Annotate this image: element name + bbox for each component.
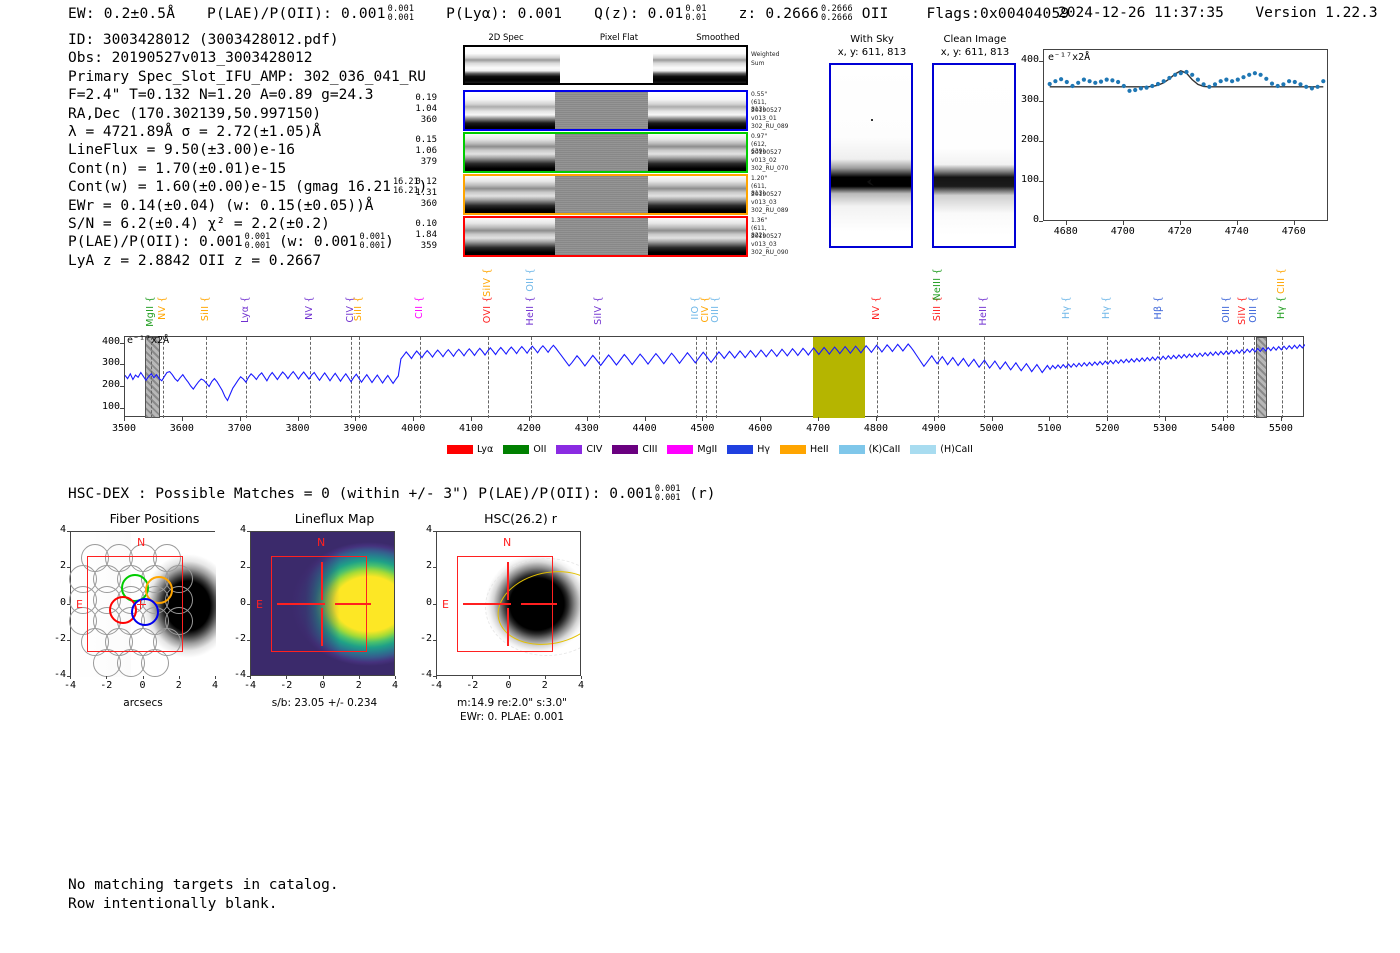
lineflux-ytick-mark-2	[247, 567, 250, 568]
fiber-positions-image[interactable]: N E	[70, 531, 215, 676]
emission-label-SiII-2: SiII {	[200, 296, 211, 321]
lineflux-xtick-mark-4	[395, 676, 396, 679]
hsc-ytick-mark--4	[433, 676, 436, 677]
fiber-row-3-num-1: 1.84	[409, 230, 437, 242]
fiber-ytick-mark-2	[67, 567, 70, 568]
zoom-xtick-mark-4700	[1123, 221, 1124, 225]
hsc-xtick-mark--4	[436, 676, 437, 679]
emission-label-Hβ-22: Hβ {	[1153, 296, 1164, 319]
main-xtick-mark-5500	[1281, 417, 1282, 421]
legend-swatch-(H)CaII	[910, 445, 936, 454]
legend-swatch-Lyα	[447, 445, 473, 454]
main-ytick-400: 400	[88, 336, 120, 347]
fiber-xtick-mark--4	[70, 676, 71, 679]
header-qz-range: 0.010.01	[685, 5, 706, 23]
lineflux-xtick-mark-2	[359, 676, 360, 679]
main-ytick-mark-300	[120, 364, 124, 365]
clean-image-title: Clean Image	[925, 34, 1025, 45]
weighted-sum-label-2: Sum	[751, 60, 764, 67]
legend-label-CIII: CIII	[642, 444, 657, 455]
fiber-row-3-meta-2: 20190527	[751, 233, 782, 240]
main-xtick-mark-5000	[992, 417, 993, 421]
emission-label-Hγ-26: Hγ {	[1276, 296, 1287, 319]
fiber-row-3-strip[interactable]	[463, 216, 748, 257]
main-xtick-5500: 5500	[1259, 423, 1303, 434]
main-xtick-5100: 5100	[1027, 423, 1071, 434]
main-ytick-mark-200	[120, 386, 124, 387]
emission-label-SiII-6: SiII {	[353, 296, 364, 321]
lineflux-xtick-mark--2	[286, 676, 287, 679]
main-xtick-mark-5300	[1165, 417, 1166, 421]
plae-w-range: 0.0010.001	[360, 233, 386, 251]
header-ew: EW: 0.2±0.5Å	[68, 6, 175, 22]
lineflux-map-title: Lineflux Map	[242, 511, 427, 526]
fiber-row-1-num-2: 379	[409, 157, 437, 169]
emission-label-SiIV-9: SiIV {	[482, 268, 493, 297]
fiber-row-2-num-0: 0.12	[409, 177, 437, 189]
lineflux-east-label: E	[256, 598, 263, 611]
clean-image-subtitle: x, y: 611, 813	[925, 47, 1025, 58]
fiber-row-2-meta-0: 1.20"	[751, 175, 767, 182]
fiber-row-1-meta-0: 0.97"	[751, 133, 767, 140]
fiber-row-2-num-1: 1.31	[409, 188, 437, 200]
main-xtick-5300: 5300	[1143, 423, 1187, 434]
legend-item-Lyα: Lyα	[447, 444, 493, 455]
legend-swatch-CIII	[612, 445, 638, 454]
lineflux-ytick-mark-4	[247, 531, 250, 532]
info-primary-spec: Primary Spec_Slot_IFU_AMP: 302_036_041_R…	[68, 68, 427, 86]
main-ytick-100: 100	[88, 401, 120, 412]
twod-spectra-panel: 2D Spec Pixel Flat Smoothed Weighted Sum…	[441, 33, 761, 258]
legend-swatch-Hγ	[727, 445, 753, 454]
emission-label-HeII-19: HeII {	[978, 296, 989, 325]
hsc-ytick-0: 0	[412, 597, 432, 608]
main-xtick-mark-4400	[645, 417, 646, 421]
footer-line-2: Row intentionally blank.	[68, 895, 339, 914]
lineflux-ytick-4: 4	[226, 524, 246, 535]
header-plae-poii-range: 0.0010.001	[388, 5, 415, 23]
info-redshifts: LyA z = 2.8842 OII z = 0.2667	[68, 252, 427, 270]
legend-label-OII: OII	[533, 444, 546, 455]
zoom-xtick-4700: 4700	[1103, 226, 1143, 237]
hsc-dex-range: 0.0010.001	[655, 485, 681, 503]
main-xtick-mark-4000	[413, 417, 414, 421]
lineflux-xtick-0: 0	[307, 680, 339, 691]
main-xtick-mark-3800	[298, 417, 299, 421]
legend-label-(K)CaII: (K)CaII	[869, 444, 901, 455]
legend-label-CIV: CIV	[586, 444, 602, 455]
fiber-xtick-0: 0	[127, 680, 159, 691]
fiber-xtick--4: -4	[54, 680, 86, 691]
fiber-row-3-meta-3: v013_03	[751, 241, 777, 248]
timestamp: 2024-12-26 11:37:35	[1058, 5, 1224, 21]
hsc-xtick-0: 0	[493, 680, 525, 691]
emission-label-Lyα-3: Lyα {	[240, 296, 251, 323]
main-xtick-4100: 4100	[449, 423, 493, 434]
main-xtick-3700: 3700	[218, 423, 262, 434]
fiber-row-1-meta-4: 302_RU_070	[751, 165, 788, 172]
main-xtick-mark-4200	[529, 417, 530, 421]
hsc-east-label: E	[442, 598, 449, 611]
hsc-north-label: N	[503, 536, 511, 549]
fiber-row-2-meta-4: 302_RU_089	[751, 207, 788, 214]
hsc-dex-text: HSC-DEX : Possible Matches = 0 (within +…	[68, 486, 653, 502]
legend-swatch-OII	[503, 445, 529, 454]
main-xtick-mark-5200	[1107, 417, 1108, 421]
zoom-ytick-mark-100	[1039, 181, 1043, 182]
fiber-ytick-2: 2	[46, 560, 66, 571]
fiber-row-1-strip[interactable]	[463, 132, 748, 173]
lineflux-ytick-2: 2	[226, 560, 246, 571]
main-xtick-4400: 4400	[623, 423, 667, 434]
fiber-row-0-meta-0: 0.55"	[751, 91, 767, 98]
main-xtick-mark-4800	[876, 417, 877, 421]
main-xtick-mark-3600	[182, 417, 183, 421]
fiber-xtick-4: 4	[199, 680, 231, 691]
main-xtick-5400: 5400	[1201, 423, 1245, 434]
fiber-east-label: E	[76, 598, 83, 611]
column-title-smoothed: Smoothed	[673, 33, 763, 43]
clean-image[interactable]	[932, 63, 1016, 248]
legend-swatch-HeII	[780, 445, 806, 454]
fiber-ytick-4: 4	[46, 524, 66, 535]
emission-label-Hγ-21: Hγ {	[1101, 296, 1112, 319]
fiber-ytick-0: 0	[46, 597, 66, 608]
main-xtick-mark-3700	[240, 417, 241, 421]
info-obs: Obs: 20190527v013_3003428012	[68, 49, 427, 67]
main-xtick-mark-4900	[934, 417, 935, 421]
main-xtick-3500: 3500	[102, 423, 146, 434]
hsc-ytick-mark--2	[433, 640, 436, 641]
zoom-xtick-mark-4720	[1180, 221, 1181, 225]
emission-label-NV-1: NV {	[157, 296, 168, 320]
zoom-ytick-mark-300	[1039, 101, 1043, 102]
hsc-image[interactable]: N E	[436, 531, 581, 676]
emission-label-HeII-10: HeII {	[525, 296, 536, 325]
hsc-caption-2: EWr: 0. PLAE: 0.001	[432, 711, 592, 723]
hsc-xtick-mark--2	[472, 676, 473, 679]
main-ytick-200: 200	[88, 379, 120, 390]
hsc-caption-1: m:14.9 re:2.0" s:3.0"	[432, 697, 592, 709]
emission-label-NeIII-18: NeIII {	[932, 268, 943, 301]
header-plya: P(Lyα): 0.001	[446, 6, 562, 22]
legend-item-CIII: CIII	[612, 444, 657, 455]
fiber-xtick-mark-0	[143, 676, 144, 679]
fiber-ytick-mark-4	[67, 531, 70, 532]
lineflux-ytick--2: -2	[226, 633, 246, 644]
column-title-pixel-flat: Pixel Flat	[569, 33, 669, 43]
hsc-ytick--2: -2	[412, 633, 432, 644]
weighted-sum-strip	[463, 45, 748, 85]
fiber-row-0-meta-3: v013_01	[751, 115, 777, 122]
legend-label-Lyα: Lyα	[477, 444, 493, 455]
fiber-north-label: N	[137, 536, 145, 549]
with-sky-image[interactable]	[829, 63, 913, 248]
legend-item-HeII: HeII	[780, 444, 829, 455]
legend-swatch-MgII	[667, 445, 693, 454]
lineflux-xtick-2: 2	[343, 680, 375, 691]
lineflux-caption: s/b: 23.05 +/- 0.234	[252, 697, 397, 709]
emission-label-NV-4: NV {	[304, 296, 315, 320]
fiber-ytick-mark-0	[67, 604, 70, 605]
lineflux-ytick-0: 0	[226, 597, 246, 608]
fiber-ytick-mark--2	[67, 640, 70, 641]
zoom-ytick-mark-400	[1039, 61, 1043, 62]
main-xtick-mark-4100	[471, 417, 472, 421]
legend-label-(H)CaII: (H)CaII	[940, 444, 973, 455]
fiber-ytick-mark--4	[67, 676, 70, 677]
main-xtick-3800: 3800	[276, 423, 320, 434]
hsc-xtick-mark-2	[545, 676, 546, 679]
zoom-ytick-mark-200	[1039, 141, 1043, 142]
emission-label-SiIV-24: SiIV {	[1237, 296, 1248, 325]
hsc-xtick-mark-4	[581, 676, 582, 679]
hsc-ytick-mark-2	[433, 567, 436, 568]
zoom-ytick-300: 300	[1011, 94, 1039, 105]
hsc-xtick--2: -2	[456, 680, 488, 691]
info-continuum-narrow: Cont(n) = 1.70(±0.01)e-15	[68, 160, 427, 178]
main-xtick-4900: 4900	[912, 423, 956, 434]
main-xtick-4300: 4300	[565, 423, 609, 434]
lineflux-north-label: N	[317, 536, 325, 549]
info-radec: RA,Dec (170.302139,50.997150)	[68, 105, 427, 123]
lineflux-xtick-mark--4	[250, 676, 251, 679]
lineflux-xtick--4: -4	[234, 680, 266, 691]
weighted-sum-label-1: Weighted	[751, 51, 779, 58]
zoom-xtick-mark-4760	[1294, 221, 1295, 225]
fiber-row-3-meta-0: 1.36"	[751, 217, 767, 224]
main-ytick-mark-400	[120, 343, 124, 344]
fiber-ytick--2: -2	[46, 633, 66, 644]
emission-label-CIII-27: CIII {	[1276, 268, 1287, 294]
main-xtick-mark-3900	[355, 417, 356, 421]
main-xtick-4500: 4500	[680, 423, 724, 434]
emission-label-OIII-25: OIII {	[1248, 296, 1259, 323]
lineflux-xtick-4: 4	[379, 680, 411, 691]
header-qz: Q(z): 0.01	[594, 6, 683, 22]
legend-label-MgII: MgII	[697, 444, 717, 455]
main-xtick-4600: 4600	[738, 423, 782, 434]
zoom-ytick-0: 0	[1011, 214, 1039, 225]
info-id: ID: 3003428012 (3003428012.pdf)	[68, 31, 427, 49]
fiber-xtick-mark-4	[215, 676, 216, 679]
emission-label-OIII-15: OIII {	[710, 296, 721, 323]
hsc-ytick-2: 2	[412, 560, 432, 571]
fiber-xtick-2: 2	[163, 680, 195, 691]
zoom-units-annotation: e⁻¹⁷x2Å	[1048, 52, 1090, 63]
emission-label-NV-16: NV {	[871, 296, 882, 320]
header-summary-line: EW: 0.2±0.5Å P(LAE)/P(OII): 0.0010.0010.…	[68, 5, 1069, 23]
legend-item-(H)CaII: (H)CaII	[910, 444, 973, 455]
zoom-xtick-mark-4680	[1066, 221, 1067, 225]
fiber-row-2-num-2: 360	[409, 199, 437, 211]
main-xtick-4700: 4700	[796, 423, 840, 434]
info-lineflux: LineFlux = 9.50(±3.00)e-16	[68, 141, 427, 159]
lineflux-ytick-mark--4	[247, 676, 250, 677]
zoom-ytick-100: 100	[1011, 174, 1039, 185]
legend-item-OII: OII	[503, 444, 546, 455]
zoomed-line-spectrum-chart[interactable]: e⁻¹⁷x2Å	[1043, 49, 1328, 221]
fiber-row-1-num-1: 1.06	[409, 146, 437, 158]
fiber-fov-box	[87, 556, 183, 652]
header-z-range: 0.26660.2666	[821, 5, 853, 23]
main-xtick-mark-5400	[1223, 417, 1224, 421]
emission-label-OVI-8: OVI {	[482, 296, 493, 323]
main-units-annotation: e⁻¹⁷x2Å	[127, 335, 169, 346]
main-xtick-mark-5100	[1049, 417, 1050, 421]
fiber-row-2-strip[interactable]	[463, 174, 748, 215]
legend-swatch-CIV	[556, 445, 582, 454]
spectrum-legend: LyαOIICIVCIIIMgIIHγHeII(K)CaII(H)CaII	[447, 444, 973, 455]
legend-item-CIV: CIV	[556, 444, 602, 455]
main-xtick-3600: 3600	[160, 423, 204, 434]
fiber-row-1-meta-2: 20190527	[751, 149, 782, 156]
hsc-ytick--4: -4	[412, 669, 432, 680]
zoom-xtick-4680: 4680	[1046, 226, 1086, 237]
fiber-circle-25	[141, 649, 169, 677]
hsc-ytick-mark-4	[433, 531, 436, 532]
with-sky-subtitle: x, y: 611, 813	[822, 47, 922, 58]
fiber-row-1-meta-3: v013_02	[751, 157, 777, 164]
legend-item-(K)CaII: (K)CaII	[839, 444, 901, 455]
fiber-row-0-meta-4: 302_RU_089	[751, 123, 788, 130]
footer-line-1: No matching targets in catalog.	[68, 876, 339, 895]
legend-label-HeII: HeII	[810, 444, 829, 455]
fiber-row-0-num-1: 1.04	[409, 104, 437, 116]
main-ytick-mark-100	[120, 408, 124, 409]
main-xtick-mark-3500	[124, 417, 125, 421]
zoom-xtick-4720: 4720	[1160, 226, 1200, 237]
hsc-xtick-mark-0	[509, 676, 510, 679]
header-z: z: 0.2666	[739, 6, 819, 22]
fiber-row-2-meta-3: v013_03	[751, 199, 777, 206]
main-xtick-4000: 4000	[391, 423, 435, 434]
main-xtick-mark-4300	[587, 417, 588, 421]
version: Version 1.22.3	[1255, 5, 1377, 21]
main-xtick-mark-4500	[702, 417, 703, 421]
fiber-row-0-strip[interactable]	[463, 90, 748, 131]
zoom-ytick-mark-0	[1039, 221, 1043, 222]
lineflux-map-image[interactable]: N E	[250, 531, 395, 676]
hsc-ytick-mark-0	[433, 604, 436, 605]
lineflux-xtick--2: -2	[270, 680, 302, 691]
legend-swatch-(K)CaII	[839, 445, 865, 454]
fiber-xtick--2: -2	[90, 680, 122, 691]
with-sky-title: With Sky	[822, 34, 922, 45]
main-xtick-mark-4700	[818, 417, 819, 421]
emission-label-MgII-0: MgII {	[145, 296, 156, 327]
main-xtick-4200: 4200	[507, 423, 551, 434]
header-timestamp-version: 2024-12-26 11:37:35 Version 1.22.3	[1058, 5, 1378, 21]
zoomed-spectrum-svg	[1044, 50, 1329, 222]
info-continuum-wide: Cont(w) = 1.60(±0.00)e-15 (gmag 16.2116.…	[68, 178, 427, 196]
hsc-xtick-4: 4	[565, 680, 597, 691]
zoom-xtick-mark-4740	[1237, 221, 1238, 225]
main-xtick-4800: 4800	[854, 423, 898, 434]
hsc-xtick-2: 2	[529, 680, 561, 691]
header-z-type: OII	[862, 6, 889, 22]
info-ewr: EWr = 0.14(±0.04) (w: 0.15(±0.05))Å	[68, 197, 427, 215]
hsc-dex-filter: (r)	[689, 486, 715, 502]
detection-info-block: ID: 3003428012 (3003428012.pdf) Obs: 201…	[68, 31, 427, 270]
zoom-xtick-4760: 4760	[1274, 226, 1314, 237]
fiber-row-3-num-0: 0.10	[409, 219, 437, 231]
info-params: F=2.4" T=0.132 N=1.20 A=0.89 g=24.3	[68, 86, 427, 104]
main-xtick-3900: 3900	[333, 423, 377, 434]
emission-label-Hγ-20: Hγ {	[1061, 296, 1072, 319]
lineflux-ytick--4: -4	[226, 669, 246, 680]
hsc-xtick--4: -4	[420, 680, 452, 691]
emission-label-CII-7: CII {	[414, 296, 425, 319]
fiber-row-0-num-0: 0.19	[409, 93, 437, 105]
hsc-image-title: HSC(26.2) r	[428, 511, 613, 526]
legend-label-Hγ: Hγ	[757, 444, 770, 455]
info-lambda-sigma: λ = 4721.89Å σ = 2.72(±1.05)Å	[68, 123, 427, 141]
main-xtick-mark-4600	[760, 417, 761, 421]
column-title-2d-spec: 2D Spec	[451, 33, 561, 43]
zoom-ytick-200: 200	[1011, 134, 1039, 145]
plae-range: 0.0010.001	[245, 233, 271, 251]
fiber-xtick-mark-2	[179, 676, 180, 679]
emission-label-OIII-23: OIII {	[1221, 296, 1232, 323]
zoom-ytick-400: 400	[1011, 54, 1039, 65]
fiber-xtick-mark--2	[106, 676, 107, 679]
full-spectrum-chart[interactable]: e⁻¹⁷x2Å	[124, 336, 1304, 417]
hsc-dex-summary: HSC-DEX : Possible Matches = 0 (within +…	[68, 485, 715, 503]
info-plae-poii: P(LAE)/P(OII): 0.0010.0010.001 (w: 0.001…	[68, 233, 427, 251]
hsc-ytick-4: 4	[412, 524, 432, 535]
info-snr-chi2: S/N = 6.2(±0.4) χ² = 2.2(±0.2)	[68, 215, 427, 233]
fiber-row-0-meta-2: 20190527	[751, 107, 782, 114]
fiber-row-3-meta-4: 302_RU_090	[751, 249, 788, 256]
footer-notes: No matching targets in catalog. Row inte…	[68, 876, 339, 914]
header-flags: Flags:0x00404059	[926, 6, 1069, 22]
main-ytick-300: 300	[88, 357, 120, 368]
legend-item-MgII: MgII	[667, 444, 717, 455]
emission-label-SiIV-12: SiIV {	[593, 296, 604, 325]
fiber-row-1-num-0: 0.15	[409, 135, 437, 147]
emission-label-OII-11: OII {	[525, 268, 536, 292]
zoom-xtick-4740: 4740	[1217, 226, 1257, 237]
fiber-row-3-num-2: 359	[409, 241, 437, 253]
fiber-row-2-meta-2: 20190527	[751, 191, 782, 198]
legend-item-Hγ: Hγ	[727, 444, 770, 455]
main-xtick-5200: 5200	[1085, 423, 1129, 434]
lineflux-ytick-mark--2	[247, 640, 250, 641]
fiber-row-0-num-2: 360	[409, 115, 437, 127]
fiber-ytick--4: -4	[46, 669, 66, 680]
main-xtick-5000: 5000	[970, 423, 1014, 434]
lineflux-xtick-mark-0	[323, 676, 324, 679]
lineflux-ytick-mark-0	[247, 604, 250, 605]
header-plae-poii: P(LAE)/P(OII): 0.001	[207, 6, 386, 22]
fiber-xlabel: arcsecs	[78, 697, 208, 709]
fiber-positions-title: Fiber Positions	[62, 511, 247, 526]
full-spectrum-svg	[125, 337, 1305, 418]
